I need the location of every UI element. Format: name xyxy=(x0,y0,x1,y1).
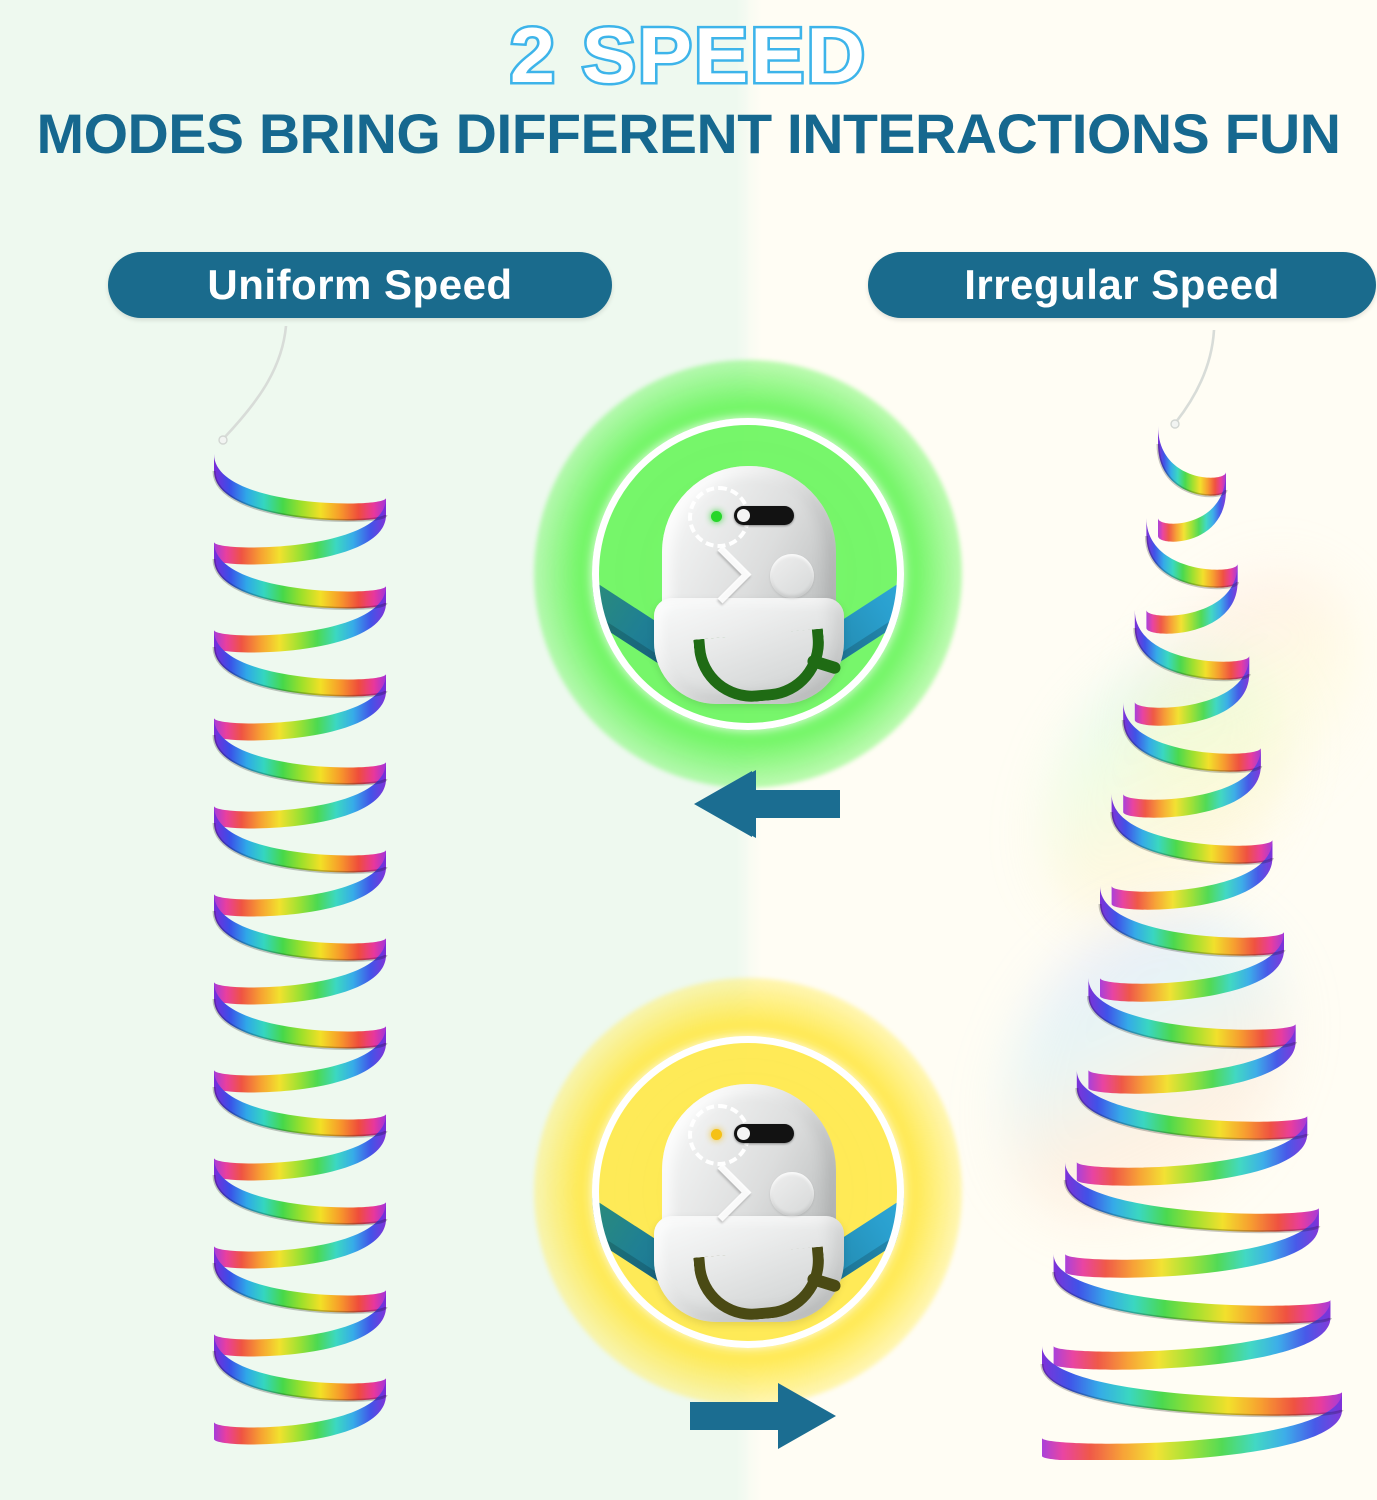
pill-label-uniform: Uniform Speed xyxy=(207,261,512,309)
pill-label-irregular: Irregular Speed xyxy=(964,261,1280,309)
arrow-right-icon xyxy=(690,1380,840,1452)
marketing-graphic-stage: 2 SPEED MODES BRING DIFFERENT INTERACTIO… xyxy=(0,0,1377,1500)
device-ring-yellow xyxy=(592,1036,904,1348)
label-pill-irregular-speed: Irregular Speed xyxy=(868,252,1376,318)
spiral-turn-front xyxy=(1158,426,1226,496)
page-subheadline: MODES BRING DIFFERENT INTERACTIONS FUN xyxy=(0,104,1377,164)
arrow-left-icon xyxy=(690,768,840,840)
label-pill-uniform-speed: Uniform Speed xyxy=(108,252,612,318)
rainbow-spiral-uniform xyxy=(170,430,430,1450)
spiral-ribbon-uniform xyxy=(214,454,386,1444)
rainbow-spiral-irregular xyxy=(1020,400,1377,1460)
spiral-turn-front xyxy=(214,454,386,520)
device-ring-green xyxy=(592,418,904,730)
spiral-ribbon-irregular xyxy=(1042,426,1342,1460)
device-mode-yellow xyxy=(592,1036,904,1348)
page-headline: 2 SPEED xyxy=(0,14,1377,96)
device-mode-green xyxy=(592,418,904,730)
